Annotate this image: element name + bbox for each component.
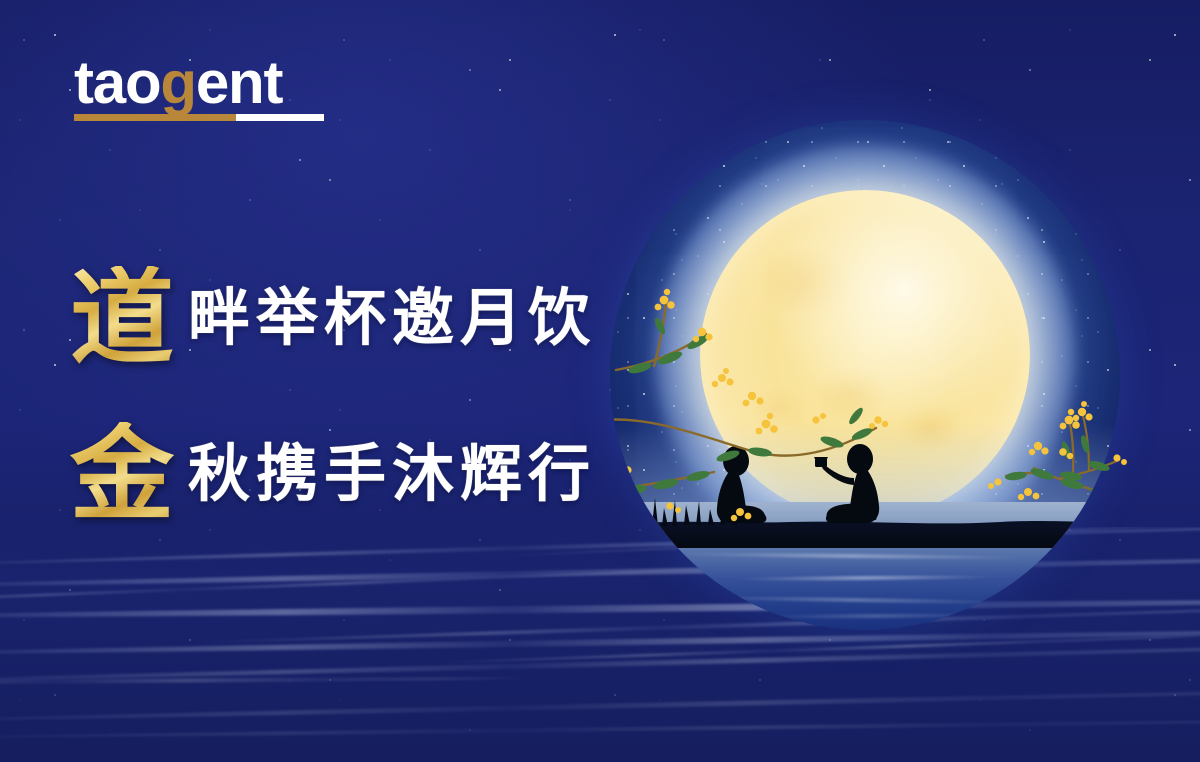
logo-text-tao: tao (74, 49, 160, 116)
brand-logo[interactable]: taogent (74, 54, 334, 126)
mid-autumn-festival-banner: taogent 道 畔举杯邀月饮 金 秋携手沐辉行 (0, 0, 1200, 762)
headline-accent-char-2: 金 (70, 422, 174, 526)
headline-text-2: 秋携手沐辉行 (188, 438, 596, 510)
moon-scene-illustration (610, 120, 1120, 630)
osmanthus-branches-overlay (610, 120, 1120, 630)
osmanthus-branch-left-main (610, 289, 888, 521)
osmanthus-branch-outside-circle (1055, 390, 1200, 540)
headline-couplet: 道 畔举杯邀月饮 金 秋携手沐辉行 (70, 258, 610, 534)
brand-logo-wordmark: taogent (74, 54, 334, 112)
headline-accent-char-1: 道 (70, 266, 174, 370)
logo-text-g: g (160, 49, 195, 116)
water-streak (0, 627, 1200, 657)
water-streak (0, 687, 1200, 723)
logo-underline-white-segment (236, 114, 324, 121)
headline-text-1: 畔举杯邀月饮 (188, 282, 596, 354)
logo-text-ent: ent (196, 49, 282, 116)
headline-line-1: 道 畔举杯邀月饮 (70, 258, 610, 378)
headline-line-2: 金 秋携手沐辉行 (70, 414, 610, 534)
logo-underline-gold-segment (74, 114, 236, 121)
brand-logo-underline (74, 114, 324, 121)
water-streak (0, 643, 1200, 685)
water-streak (0, 676, 540, 686)
water-streak (0, 718, 1200, 740)
water-streak (420, 632, 1200, 664)
